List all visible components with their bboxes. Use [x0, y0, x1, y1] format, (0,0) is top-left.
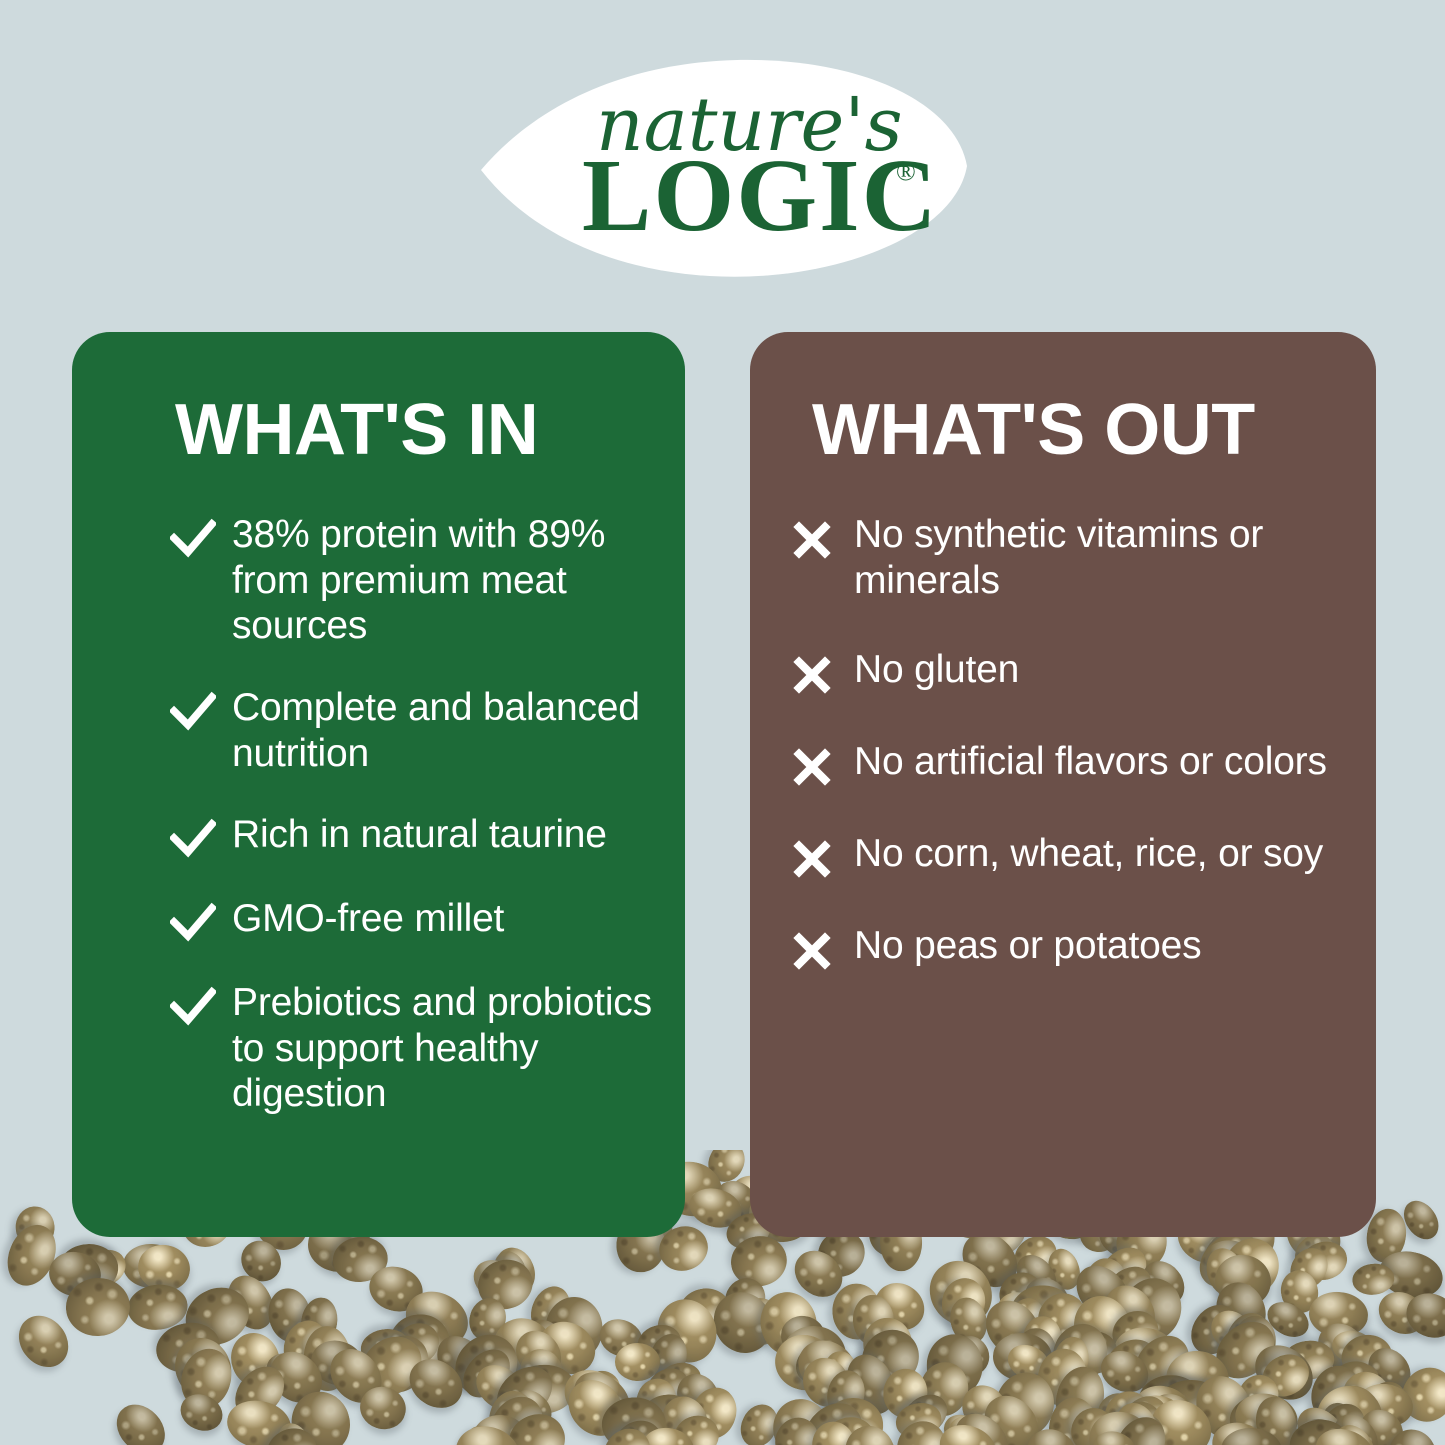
list-item: No artificial flavors or colors	[792, 739, 1352, 787]
list-item: No corn, wheat, rice, or soy	[792, 831, 1352, 879]
list-item-label: No gluten	[854, 647, 1019, 693]
list-item: 38% protein with 89% from premium meat s…	[170, 512, 670, 649]
list-item-label: No synthetic vitamins or minerals	[854, 512, 1352, 603]
check-icon	[170, 818, 216, 860]
check-icon	[170, 691, 216, 733]
list-item-label: No peas or potatoes	[854, 923, 1201, 969]
x-icon	[792, 745, 832, 787]
x-icon	[792, 837, 832, 879]
whats-out-list: No synthetic vitamins or minerals No glu…	[792, 512, 1352, 971]
logo-wordmark: LOGIC	[582, 138, 939, 253]
whats-out-title: WHAT'S OUT	[812, 394, 1376, 466]
list-item: No peas or potatoes	[792, 923, 1352, 971]
kibble-piece	[108, 1395, 175, 1445]
check-icon	[170, 518, 216, 560]
list-item-label: Complete and balanced nutrition	[232, 685, 670, 776]
list-item-label: GMO-free millet	[232, 896, 504, 942]
whats-in-panel: WHAT'S IN 38% protein with 89% from prem…	[72, 332, 685, 1237]
brand-logo: nature's LOGIC ®	[478, 58, 970, 280]
list-item-label: 38% protein with 89% from premium meat s…	[232, 512, 670, 649]
list-item: Rich in natural taurine	[170, 812, 670, 860]
list-item: GMO-free millet	[170, 896, 670, 944]
list-item: No gluten	[792, 647, 1352, 695]
x-icon	[792, 929, 832, 971]
whats-in-list: 38% protein with 89% from premium meat s…	[170, 512, 670, 1117]
check-icon	[170, 902, 216, 944]
list-item-label: Prebiotics and probiotics to support hea…	[232, 980, 670, 1117]
check-icon	[170, 986, 216, 1028]
list-item-label: Rich in natural taurine	[232, 812, 607, 858]
whats-in-title: WHAT'S IN	[175, 394, 685, 466]
list-item: Complete and balanced nutrition	[170, 685, 670, 776]
list-item: Prebiotics and probiotics to support hea…	[170, 980, 670, 1117]
list-item-label: No artificial flavors or colors	[854, 739, 1327, 785]
product-benefits-infographic: nature's LOGIC ® WHAT'S IN 38% protein w…	[0, 0, 1445, 1445]
x-icon	[792, 653, 832, 695]
registered-trademark-icon: ®	[896, 157, 916, 186]
whats-out-panel: WHAT'S OUT No synthetic vitamins or mine…	[750, 332, 1376, 1237]
list-item: No synthetic vitamins or minerals	[792, 512, 1352, 603]
x-icon	[792, 518, 832, 560]
list-item-label: No corn, wheat, rice, or soy	[854, 831, 1323, 877]
